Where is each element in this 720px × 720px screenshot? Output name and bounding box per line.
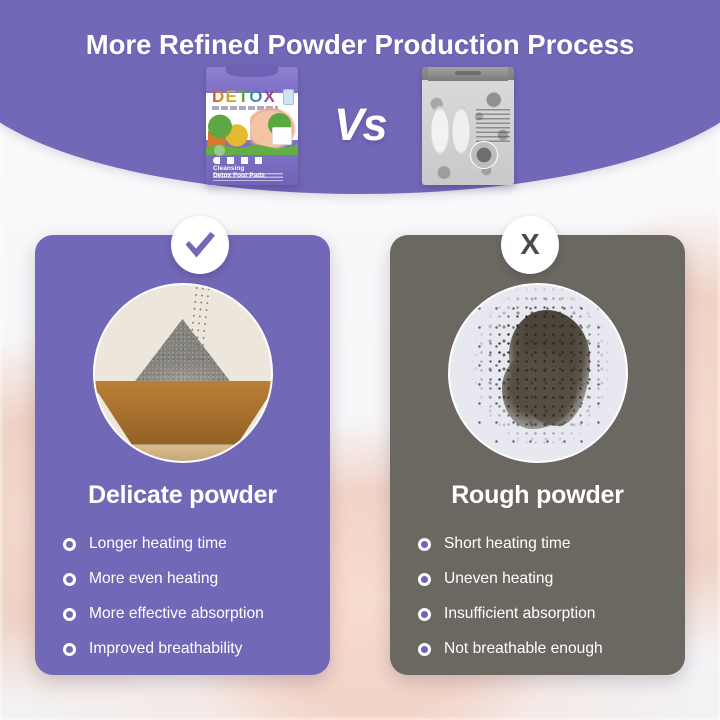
comparison-card-rough[interactable]: Rough powder Short heating time Uneven h… xyxy=(390,235,685,675)
page-title: More Refined Powder Production Process xyxy=(0,29,720,61)
product-package-detox: DETOX Cleansing Detox Foot Pads xyxy=(206,67,298,185)
rough-powder-photo xyxy=(448,283,628,463)
list-item: More effective absorption xyxy=(63,597,316,632)
card-title-delicate: Delicate powder xyxy=(35,481,330,510)
list-item-label: Not breathable enough xyxy=(444,640,603,659)
page-title-text: More Refined Powder Production Process xyxy=(86,29,635,60)
package-hang-tab xyxy=(226,67,278,77)
card-title-rough: Rough powder xyxy=(390,481,685,510)
product-package-generic xyxy=(422,67,514,185)
bullet-dot-icon xyxy=(418,573,431,586)
generic-package-feet-photo xyxy=(427,95,475,169)
wooden-bowl xyxy=(93,381,273,455)
package-caption-line-1: Cleansing xyxy=(213,165,293,172)
generic-package-hang-hole xyxy=(455,71,481,75)
delicate-benefit-list: Longer heating time More even heating Mo… xyxy=(63,527,316,667)
cross-badge: X xyxy=(501,216,559,274)
bullet-dot-icon xyxy=(418,643,431,656)
rough-drawback-list: Short heating time Uneven heating Insuff… xyxy=(418,527,671,667)
list-item-label: Longer heating time xyxy=(89,535,227,554)
list-item-label: More effective absorption xyxy=(89,605,264,624)
bullet-dot-icon xyxy=(63,538,76,551)
generic-package-callout-circle xyxy=(470,141,498,169)
list-item: Longer heating time xyxy=(63,527,316,562)
powder-pour-stream xyxy=(186,284,214,364)
list-item: Improved breathability xyxy=(63,632,316,667)
generic-package-text-block xyxy=(476,109,510,143)
package-count-circle xyxy=(214,145,225,156)
coarse-powder-grain xyxy=(450,285,626,461)
x-icon: X xyxy=(520,231,539,260)
comparison-card-delicate[interactable]: Delicate powder Longer heating time More… xyxy=(35,235,330,675)
check-icon xyxy=(183,230,217,260)
bullet-dot-icon xyxy=(63,643,76,656)
package-vegetable-art xyxy=(208,113,248,147)
list-item: More even heating xyxy=(63,562,316,597)
list-item-label: Uneven heating xyxy=(444,570,553,589)
bullet-dot-icon xyxy=(63,573,76,586)
bullet-dot-icon xyxy=(418,538,431,551)
package-fine-print xyxy=(213,173,283,181)
check-badge xyxy=(171,216,229,274)
list-item: Uneven heating xyxy=(418,562,671,597)
list-item-label: Short heating time xyxy=(444,535,571,554)
delicate-powder-photo xyxy=(93,283,273,463)
list-item: Short heating time xyxy=(418,527,671,562)
versus-label: Vs xyxy=(334,102,386,151)
package-brand-text: DETOX xyxy=(212,87,274,106)
list-item: Insufficient absorption xyxy=(418,597,671,632)
bullet-dot-icon xyxy=(63,608,76,621)
list-item-label: Insufficient absorption xyxy=(444,605,595,624)
photo-table-surface xyxy=(95,445,273,461)
list-item: Not breathable enough xyxy=(418,632,671,667)
package-feature-dots xyxy=(213,157,267,164)
package-pad-photo xyxy=(272,127,292,145)
product-comparison-row: DETOX Cleansing Detox Foot Pads Vs xyxy=(0,62,720,190)
package-side-badge xyxy=(283,89,294,105)
bullet-dot-icon xyxy=(418,608,431,621)
list-item-label: Improved breathability xyxy=(89,640,242,659)
list-item-label: More even heating xyxy=(89,570,218,589)
